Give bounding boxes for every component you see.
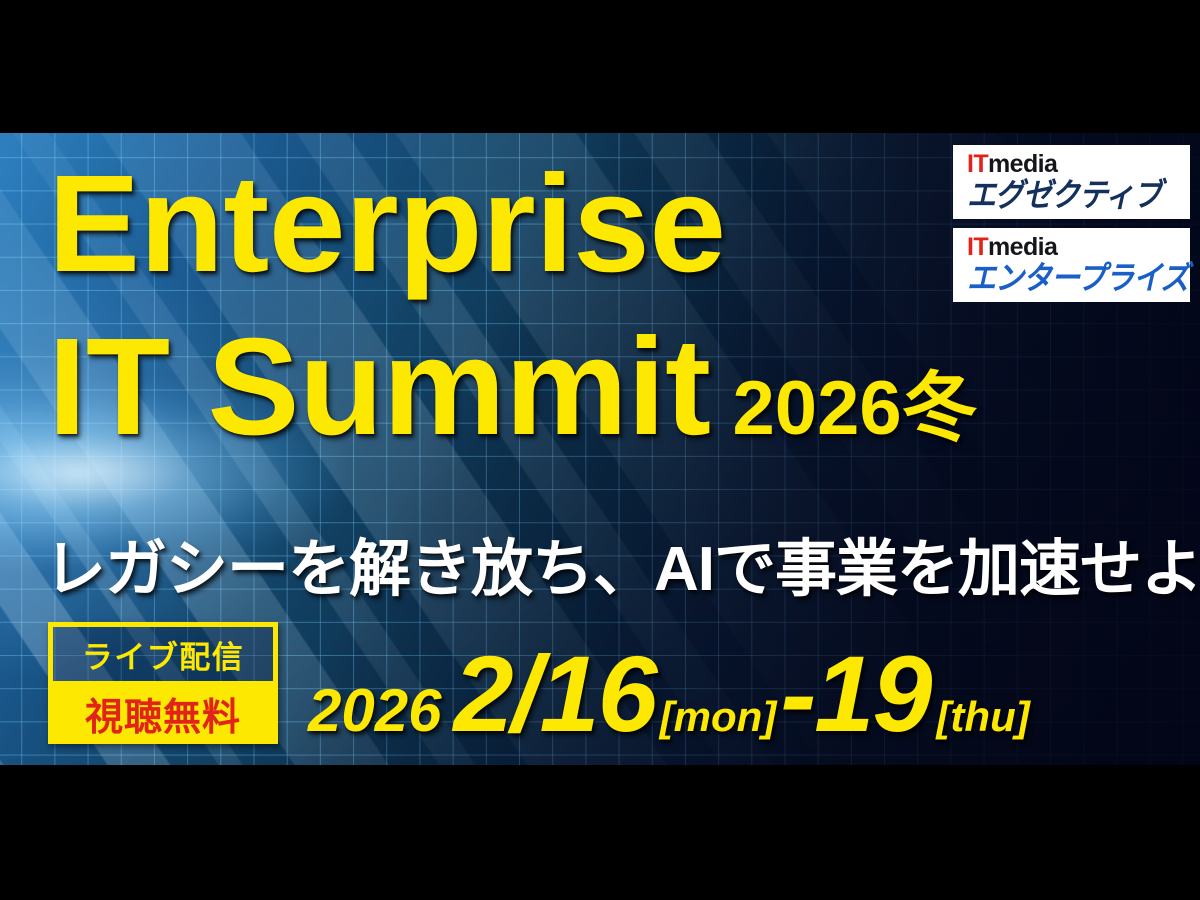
event-date-year: 2026 [308,676,441,745]
event-title-line-1: Enterprise [48,155,726,293]
event-date-dash: - [780,631,814,756]
event-title-line-2-row: IT Summit 2026冬 [48,318,978,456]
logo-executive-it: IT [967,150,988,178]
event-subtitle: レガシーを解き放ち、AIで事業を加速せよ [44,518,1200,608]
logo-executive-sub: エグゼクティブ [967,179,1180,213]
logo-executive-media: media [988,150,1057,178]
live-streaming-badge: ライブ配信 視聴無料 [48,622,278,744]
letterbox-top [0,0,1200,133]
event-banner: Enterprise IT Summit 2026冬 レガシーを解き放ち、AIで… [0,133,1200,765]
letterbox-bottom [0,765,1200,900]
badge-free-label: 視聴無料 [85,686,241,741]
event-date-start-day: [mon] [660,693,777,741]
logo-itmedia-executive[interactable]: ITmedia エグゼクティブ [953,145,1190,219]
badge-live-row: ライブ配信 [53,627,273,686]
logo-enterprise-brand: ITmedia [967,235,1180,260]
event-date-row: 2026 2/16 [mon] - 19 [thu] [308,631,1030,743]
banner-content: Enterprise IT Summit 2026冬 レガシーを解き放ち、AIで… [0,133,1200,765]
event-title-line-2: IT Summit [48,318,711,456]
logo-executive-brand: ITmedia [967,152,1180,177]
badge-live-label: ライブ配信 [82,632,245,677]
badge-free-row: 視聴無料 [53,686,273,741]
logo-enterprise-media: media [988,233,1057,261]
event-edition-label: 2026冬 [733,371,978,447]
logo-enterprise-sub: エンタープライズ [967,262,1180,296]
banner-root: Enterprise IT Summit 2026冬 レガシーを解き放ち、AIで… [0,0,1200,900]
logo-itmedia-enterprise[interactable]: ITmedia エンタープライズ [953,228,1190,302]
event-date-end: 19 [814,631,930,756]
logo-enterprise-it: IT [967,233,988,261]
event-date-end-day: [thu] [936,693,1029,741]
event-date-start: 2/16 [453,631,655,756]
